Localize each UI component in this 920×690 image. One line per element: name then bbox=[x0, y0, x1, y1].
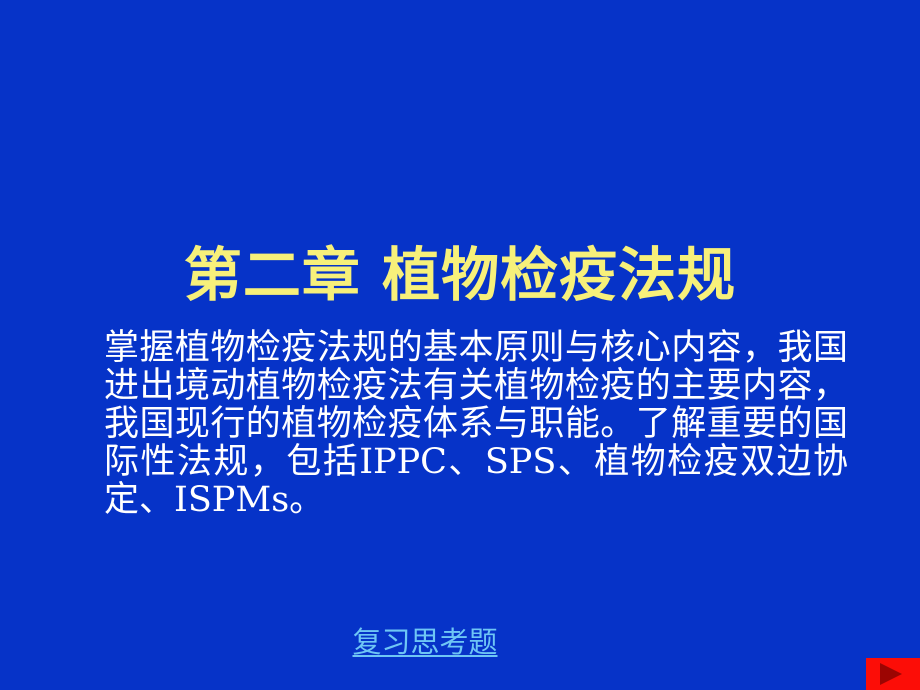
next-slide-button[interactable] bbox=[866, 658, 920, 690]
page-title: 第二章 植物检疫法规 bbox=[0, 239, 920, 311]
link-row: 复习思考题 bbox=[0, 624, 920, 660]
play-triangle-icon bbox=[880, 663, 902, 685]
slide-body-text: 掌握植物检疫法规的基本原则与核心内容，我国进出境动植物检疫法有关植物检疫的主要内… bbox=[104, 329, 848, 519]
review-questions-link[interactable]: 复习思考题 bbox=[352, 624, 497, 660]
presentation-slide: 第二章 植物检疫法规 掌握植物检疫法规的基本原则与核心内容，我国进出境动植物检疫… bbox=[0, 0, 920, 690]
